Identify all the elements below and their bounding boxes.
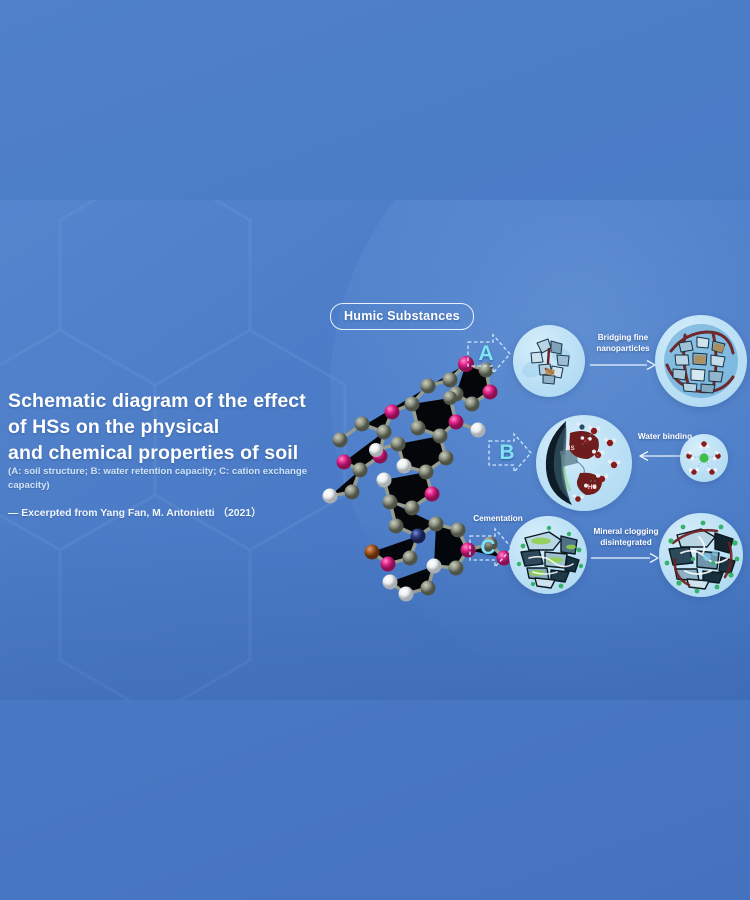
panel-c-label-line-1: Mineral clogging <box>586 527 666 538</box>
marker-a-letter: A <box>475 341 497 367</box>
panel-c-circle-after <box>659 513 743 597</box>
panel-a-label-line-1: Bridging fine <box>588 333 658 344</box>
panel-marker-c: C <box>468 527 514 569</box>
panel-a-aggregate <box>655 315 747 407</box>
panel-a-circle-before <box>513 325 585 397</box>
panel-marker-b: B <box>487 432 533 474</box>
marker-b-letter: B <box>496 440 518 466</box>
title-line-2: of HSs on the physical <box>8 414 348 440</box>
panel-c-circle-before <box>509 516 587 594</box>
title-line-3: and chemical properties of soil <box>8 440 348 466</box>
panel-b-water-retention <box>536 415 632 511</box>
panel-c-arrow-label: Mineral clogging disintegrated <box>586 527 666 548</box>
panel-c-cemented-minerals <box>509 516 587 594</box>
panel-c-label-line-2: disintegrated <box>586 538 666 549</box>
infographic-canvas: Schematic diagram of the effect of HSs o… <box>0 0 750 900</box>
panel-c-disintegrated-minerals <box>659 513 743 597</box>
panel-b-circle <box>536 415 632 511</box>
panel-a-label-line-2: nanoparticles <box>588 344 658 355</box>
title-line-1: Schematic diagram of the effect <box>8 388 348 414</box>
panel-a-arrow <box>589 358 657 372</box>
panel-marker-a: A <box>466 333 512 375</box>
page-title: Schematic diagram of the effect of HSs o… <box>8 388 348 466</box>
panel-a-arrow-label: Bridging fine nanoparticles <box>588 333 658 354</box>
panel-b-cation-hydration-circle <box>680 434 728 482</box>
panel-b-hs-tag-1: HS <box>566 446 575 452</box>
subtitle-legend: (A: soil structure; B: water retention c… <box>8 465 348 493</box>
panel-c-arrow <box>590 551 660 565</box>
panel-b-hs-tag-2: HS <box>588 485 597 491</box>
marker-c-letter: C <box>477 535 499 561</box>
source-credit: — Excerpted from Yang Fan, M. Antonietti… <box>8 506 348 521</box>
panel-b-hydrated-cation <box>680 434 728 482</box>
panel-a-circle-after <box>655 315 747 407</box>
panel-a-particles-dispersed <box>513 325 585 397</box>
